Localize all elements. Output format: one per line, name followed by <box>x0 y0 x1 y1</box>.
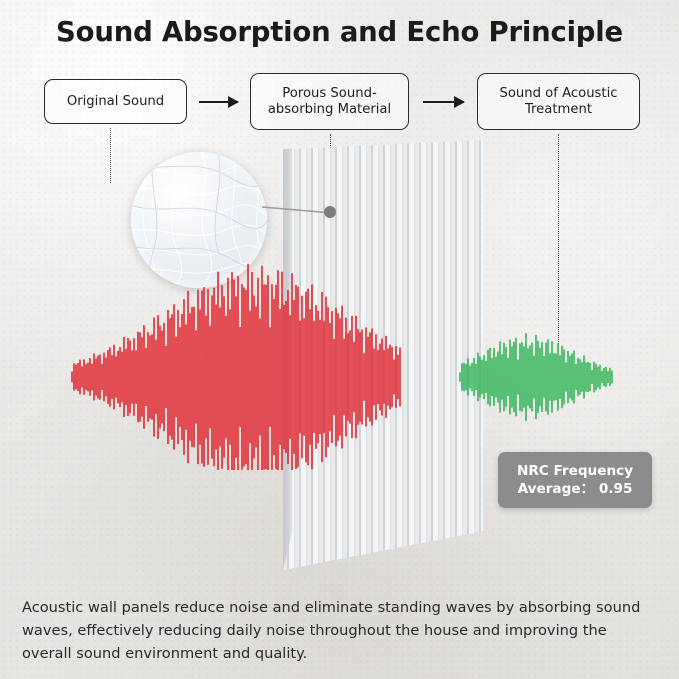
incoming-wave-red <box>72 264 400 470</box>
dotted-connector-left <box>110 128 111 183</box>
nrc-badge: NRC Frequency Average： 0.95 <box>498 452 652 508</box>
panel-sample-point <box>324 206 336 218</box>
outgoing-wave-green <box>460 333 612 421</box>
flow-box-acoustic-treatment: Sound of Acoustic Treatment <box>477 73 640 130</box>
sound-wave-graphic <box>0 255 679 470</box>
nrc-badge-line2: Average： 0.95 <box>518 480 633 498</box>
nrc-badge-line1: NRC Frequency <box>517 462 633 480</box>
caption-text: Acoustic wall panels reduce noise and el… <box>22 596 660 665</box>
arrow-right-icon-2 <box>423 101 464 103</box>
flow-box-porous-material: Porous Sound-absorbing Material <box>250 73 409 130</box>
magnifier-leader-line <box>262 206 332 220</box>
diagram-canvas: Sound Absorption and Echo Principle Orig… <box>0 0 679 679</box>
flow-box-original-sound: Original Sound <box>44 79 187 124</box>
page-title: Sound Absorption and Echo Principle <box>0 16 679 48</box>
arrow-right-icon-1 <box>199 101 238 103</box>
